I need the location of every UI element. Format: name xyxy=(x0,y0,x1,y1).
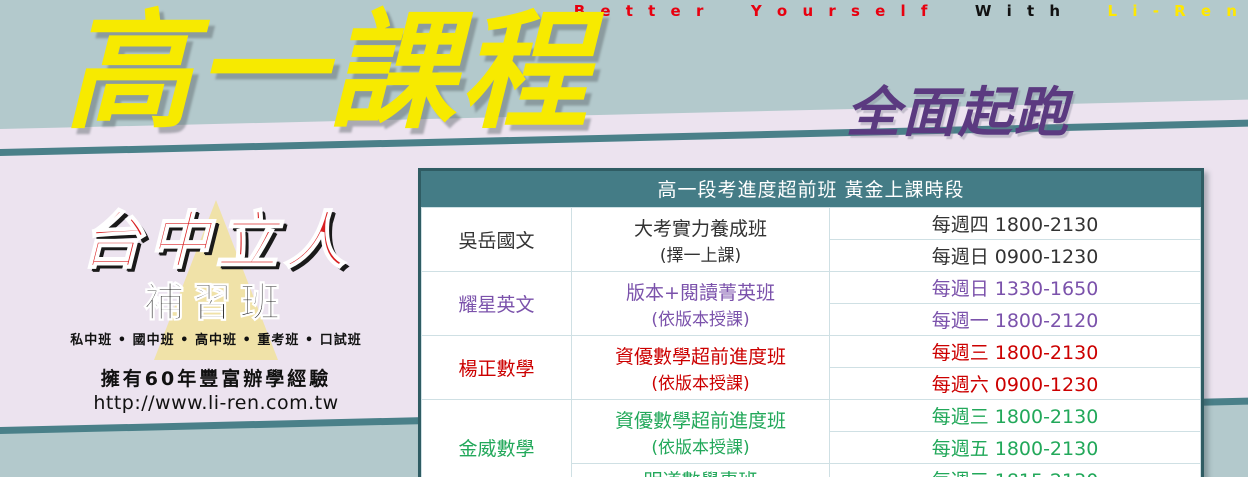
course-name: 明道數學專班 xyxy=(643,470,757,477)
tagline-word-better: B e t t e r xyxy=(574,2,709,20)
teacher-cell: 耀星英文 xyxy=(422,272,572,336)
class-time-cell: 每週四 1800-2130 xyxy=(830,208,1201,240)
course-name: 大考實力養成班 xyxy=(634,218,767,240)
class-time-cell: 每週一 1800-2120 xyxy=(830,304,1201,336)
tagline-word-liren: L i - R e n xyxy=(1108,2,1242,20)
brand-logo: 台中立人 補習班 私中班 • 國中班 • 高中班 • 重考班 • 口試班 擁有6… xyxy=(36,210,396,420)
logo-school-name: 台中立人 xyxy=(36,210,396,272)
course-cell: 明道數學專班 xyxy=(572,464,830,477)
schedule-table: 吳岳國文大考實力養成班(擇一上課)每週四 1800-2130每週日 0900-1… xyxy=(421,207,1201,477)
page-title: 高一課程 xyxy=(64,6,592,140)
page-subtitle: 全面起跑 xyxy=(846,68,1070,147)
course-name: 版本+閱讀菁英班 xyxy=(626,282,775,304)
course-cell: 版本+閱讀菁英班(依版本授課) xyxy=(572,272,830,336)
logo-experience: 擁有60年豐富辦學經驗 xyxy=(36,364,396,391)
class-time-cell: 每週五 1800-2130 xyxy=(830,432,1201,464)
teacher-cell: 金威數學 xyxy=(422,400,572,477)
logo-class-tags: 私中班 • 國中班 • 高中班 • 重考班 • 口試班 xyxy=(36,329,396,348)
course-note: (依版本授課) xyxy=(576,305,825,330)
tagline-word-yourself: Y o u r s e l f xyxy=(751,2,933,20)
table-row: 耀星英文版本+閱讀菁英班(依版本授課)每週日 1330-1650 xyxy=(422,272,1201,304)
class-time-cell: 每週日 0900-1230 xyxy=(830,240,1201,272)
course-cell: 資優數學超前進度班(依版本授課) xyxy=(572,400,830,464)
course-note: (擇一上課) xyxy=(576,241,825,266)
brand-tagline: B e t t e r Y o u r s e l f W i t h L i … xyxy=(574,2,1242,20)
course-cell: 資優數學超前進度班(依版本授課) xyxy=(572,336,830,400)
teacher-cell: 吳岳國文 xyxy=(422,208,572,272)
course-cell: 大考實力養成班(擇一上課) xyxy=(572,208,830,272)
course-name: 資優數學超前進度班 xyxy=(615,410,786,432)
table-row: 楊正數學資優數學超前進度班(依版本授課)每週三 1800-2130 xyxy=(422,336,1201,368)
class-time-cell: 每週六 0900-1230 xyxy=(830,368,1201,400)
class-time-cell: 每週三 1800-2130 xyxy=(830,400,1201,432)
logo-school-type: 補習班 xyxy=(36,270,396,328)
table-row: 吳岳國文大考實力養成班(擇一上課)每週四 1800-2130 xyxy=(422,208,1201,240)
course-name: 資優數學超前進度班 xyxy=(615,346,786,368)
promo-poster: B e t t e r Y o u r s e l f W i t h L i … xyxy=(0,0,1248,477)
course-note: (依版本授課) xyxy=(576,433,825,458)
class-time-cell: 每週三 1815-2130 xyxy=(830,464,1201,477)
tagline-word-with: W i t h xyxy=(975,2,1065,20)
class-time-cell: 每週三 1800-2130 xyxy=(830,336,1201,368)
table-row: 金威數學資優數學超前進度班(依版本授課)每週三 1800-2130 xyxy=(422,400,1201,432)
schedule-table-container: 高一段考進度超前班 黃金上課時段 吳岳國文大考實力養成班(擇一上課)每週四 18… xyxy=(418,168,1204,477)
course-note: (依版本授課) xyxy=(576,369,825,394)
schedule-table-header: 高一段考進度超前班 黃金上課時段 xyxy=(421,171,1201,207)
teacher-cell: 楊正數學 xyxy=(422,336,572,400)
class-time-cell: 每週日 1330-1650 xyxy=(830,272,1201,304)
logo-website-url: http://www.li-ren.com.tw xyxy=(36,392,396,414)
